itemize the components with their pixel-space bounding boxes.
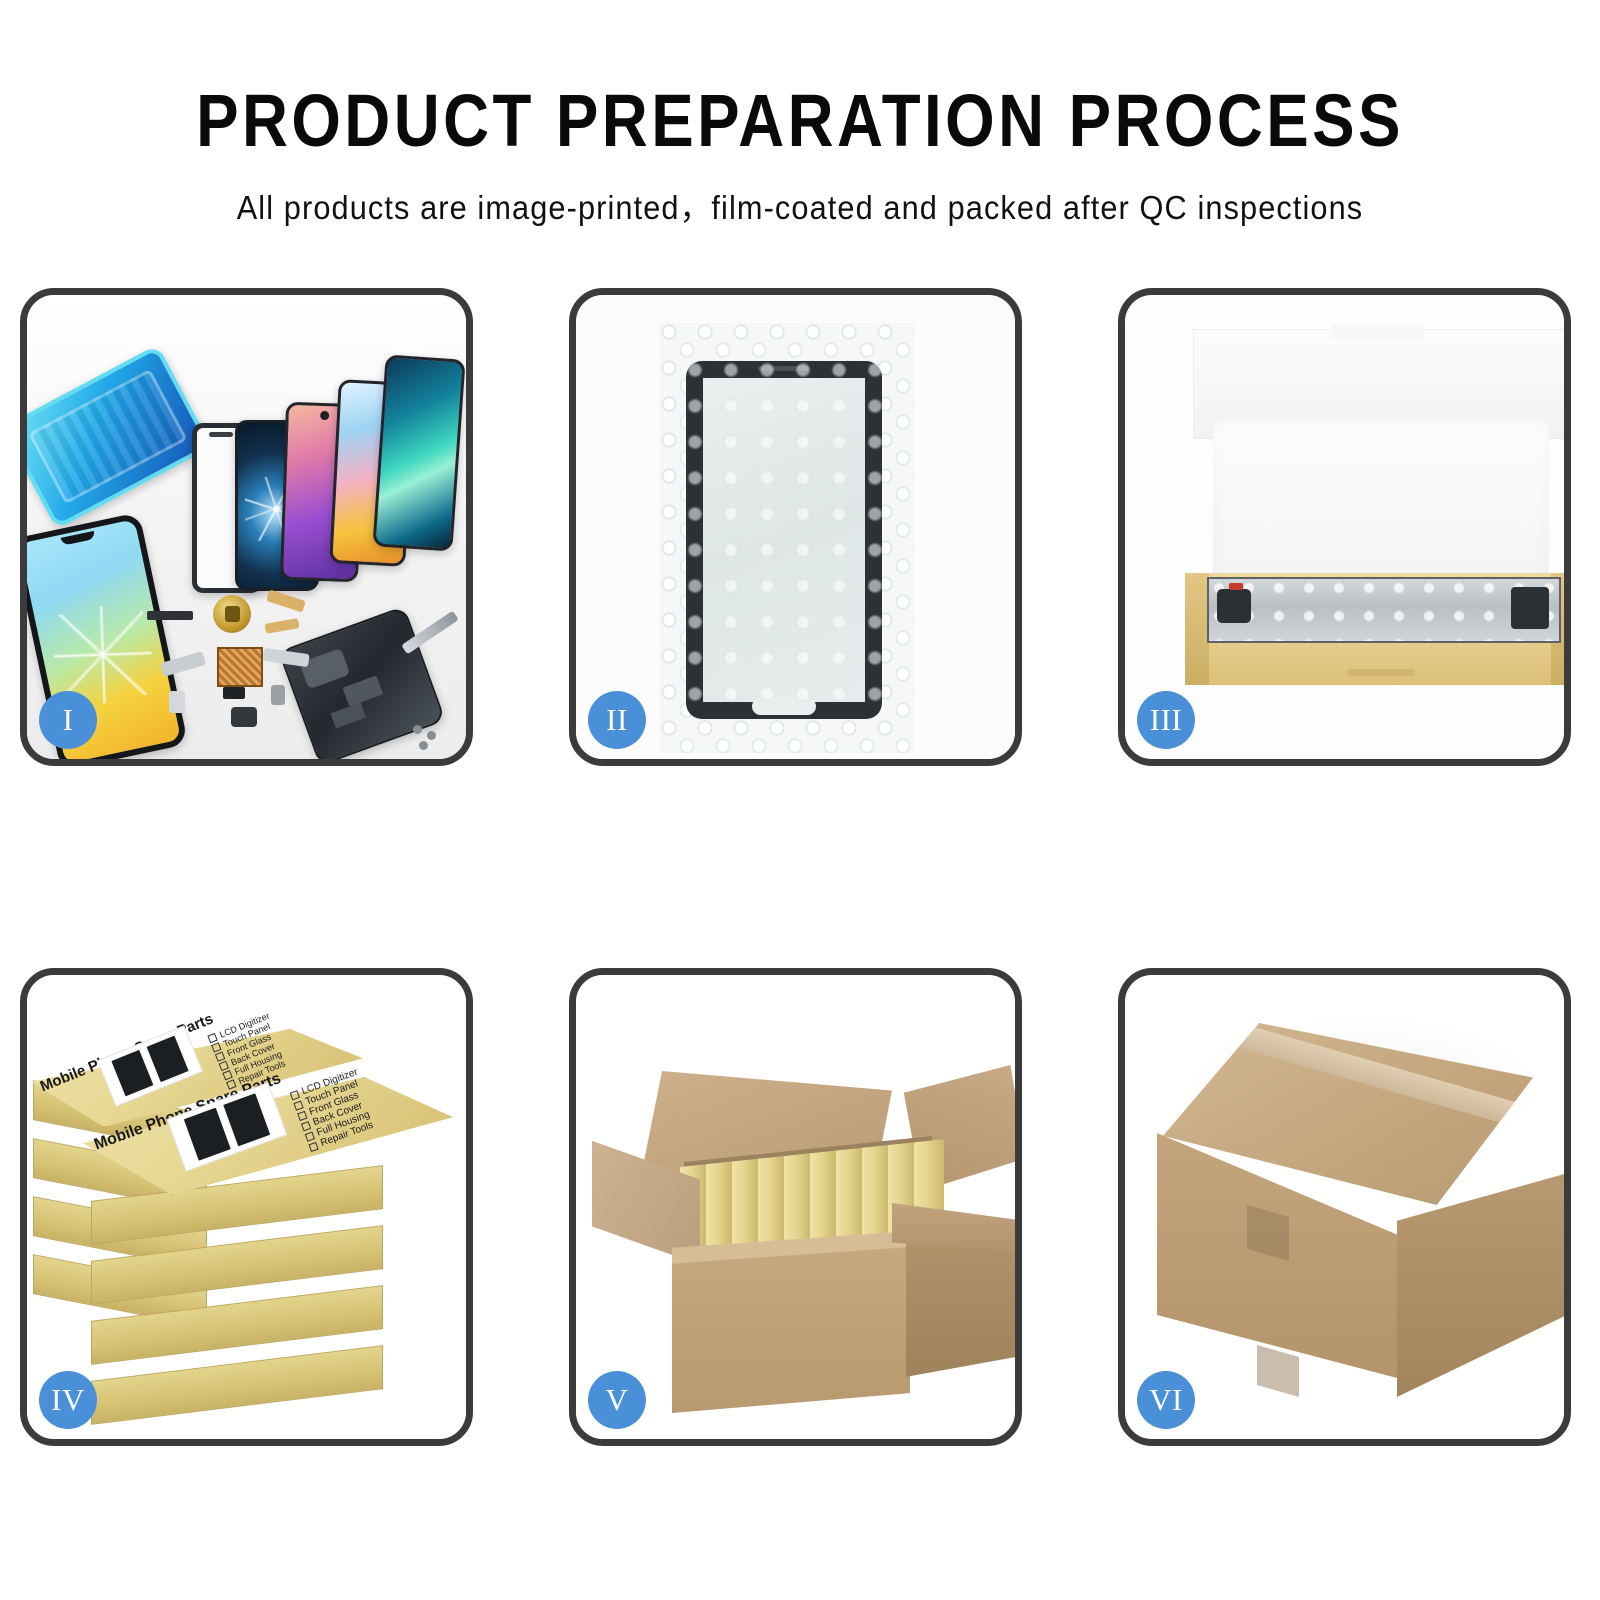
step-badge-3: III — [1137, 691, 1195, 749]
carton-front-face — [672, 1247, 910, 1413]
photo-open-shipping-carton — [576, 975, 1015, 1439]
screen-flex-end — [1511, 587, 1549, 629]
small-connector-part — [223, 687, 245, 699]
screws-part — [413, 725, 422, 734]
panel-step-5: V — [569, 968, 1022, 1446]
kraft-box-tray-left — [1185, 573, 1209, 685]
panel-step-2: II — [569, 288, 1022, 766]
box-front-seam — [1347, 669, 1415, 676]
page-title: PRODUCT PREPARATION PROCESS — [112, 0, 1488, 163]
panel-step-3: III — [1118, 288, 1571, 766]
vibrator-motor-part — [271, 685, 285, 705]
red-marker-tape — [1229, 583, 1243, 590]
photo-foam-lined-inner-box — [1125, 295, 1564, 759]
photo-stacked-retail-boxes: Mobile Phone Spare Parts LCD Digitizer T… — [27, 975, 466, 1439]
carton-side-face — [906, 1237, 1015, 1389]
step-badge-1: I — [39, 691, 97, 749]
step-badge-2: II — [588, 691, 646, 749]
photo-bubble-wrapped-screen — [576, 295, 1015, 759]
adhesive-frame-part — [27, 344, 212, 529]
camera-module-part — [231, 707, 257, 727]
page-subtitle: All products are image-printed，film-coat… — [56, 163, 1544, 229]
checkbox-icon — [308, 1141, 318, 1151]
back-housing-part — [278, 606, 446, 759]
carton-tape-tab-lower — [1257, 1345, 1299, 1397]
earpiece-speaker-part — [147, 611, 193, 620]
packed-screen-assembly — [1207, 577, 1561, 643]
screen-connector — [1217, 589, 1251, 623]
wrapped-screen-assembly — [686, 361, 882, 719]
header: PRODUCT PREPARATION PROCESS All products… — [0, 0, 1600, 229]
step-badge-4: IV — [39, 1371, 97, 1429]
wireless-charging-coil-part — [213, 595, 251, 633]
inner-box-lid-tab — [1331, 325, 1423, 339]
panel-step-1: I — [20, 288, 473, 766]
step-badge-5: V — [588, 1371, 646, 1429]
infographic-page: PRODUCT PREPARATION PROCESS All products… — [0, 0, 1600, 1600]
panel-step-6: VI — [1118, 968, 1571, 1446]
sealed-carton-side — [1397, 1171, 1564, 1397]
flex-cable-part-3 — [264, 618, 299, 634]
sim-tray-part — [169, 691, 185, 713]
white-foam-pad — [1213, 421, 1549, 585]
photo-sealed-shipping-carton — [1125, 975, 1564, 1439]
photo-spare-parts-overview — [27, 295, 466, 759]
flex-cable-part-2 — [266, 589, 306, 612]
teal-display-phone — [372, 354, 465, 551]
panel-step-4: Mobile Phone Spare Parts LCD Digitizer T… — [20, 968, 473, 1446]
ic-chip-part — [217, 647, 263, 687]
retail-box-stack: Mobile Phone Spare Parts LCD Digitizer T… — [27, 975, 466, 1439]
process-step-grid: I II — [20, 288, 1580, 1448]
step-badge-6: VI — [1137, 1371, 1195, 1429]
